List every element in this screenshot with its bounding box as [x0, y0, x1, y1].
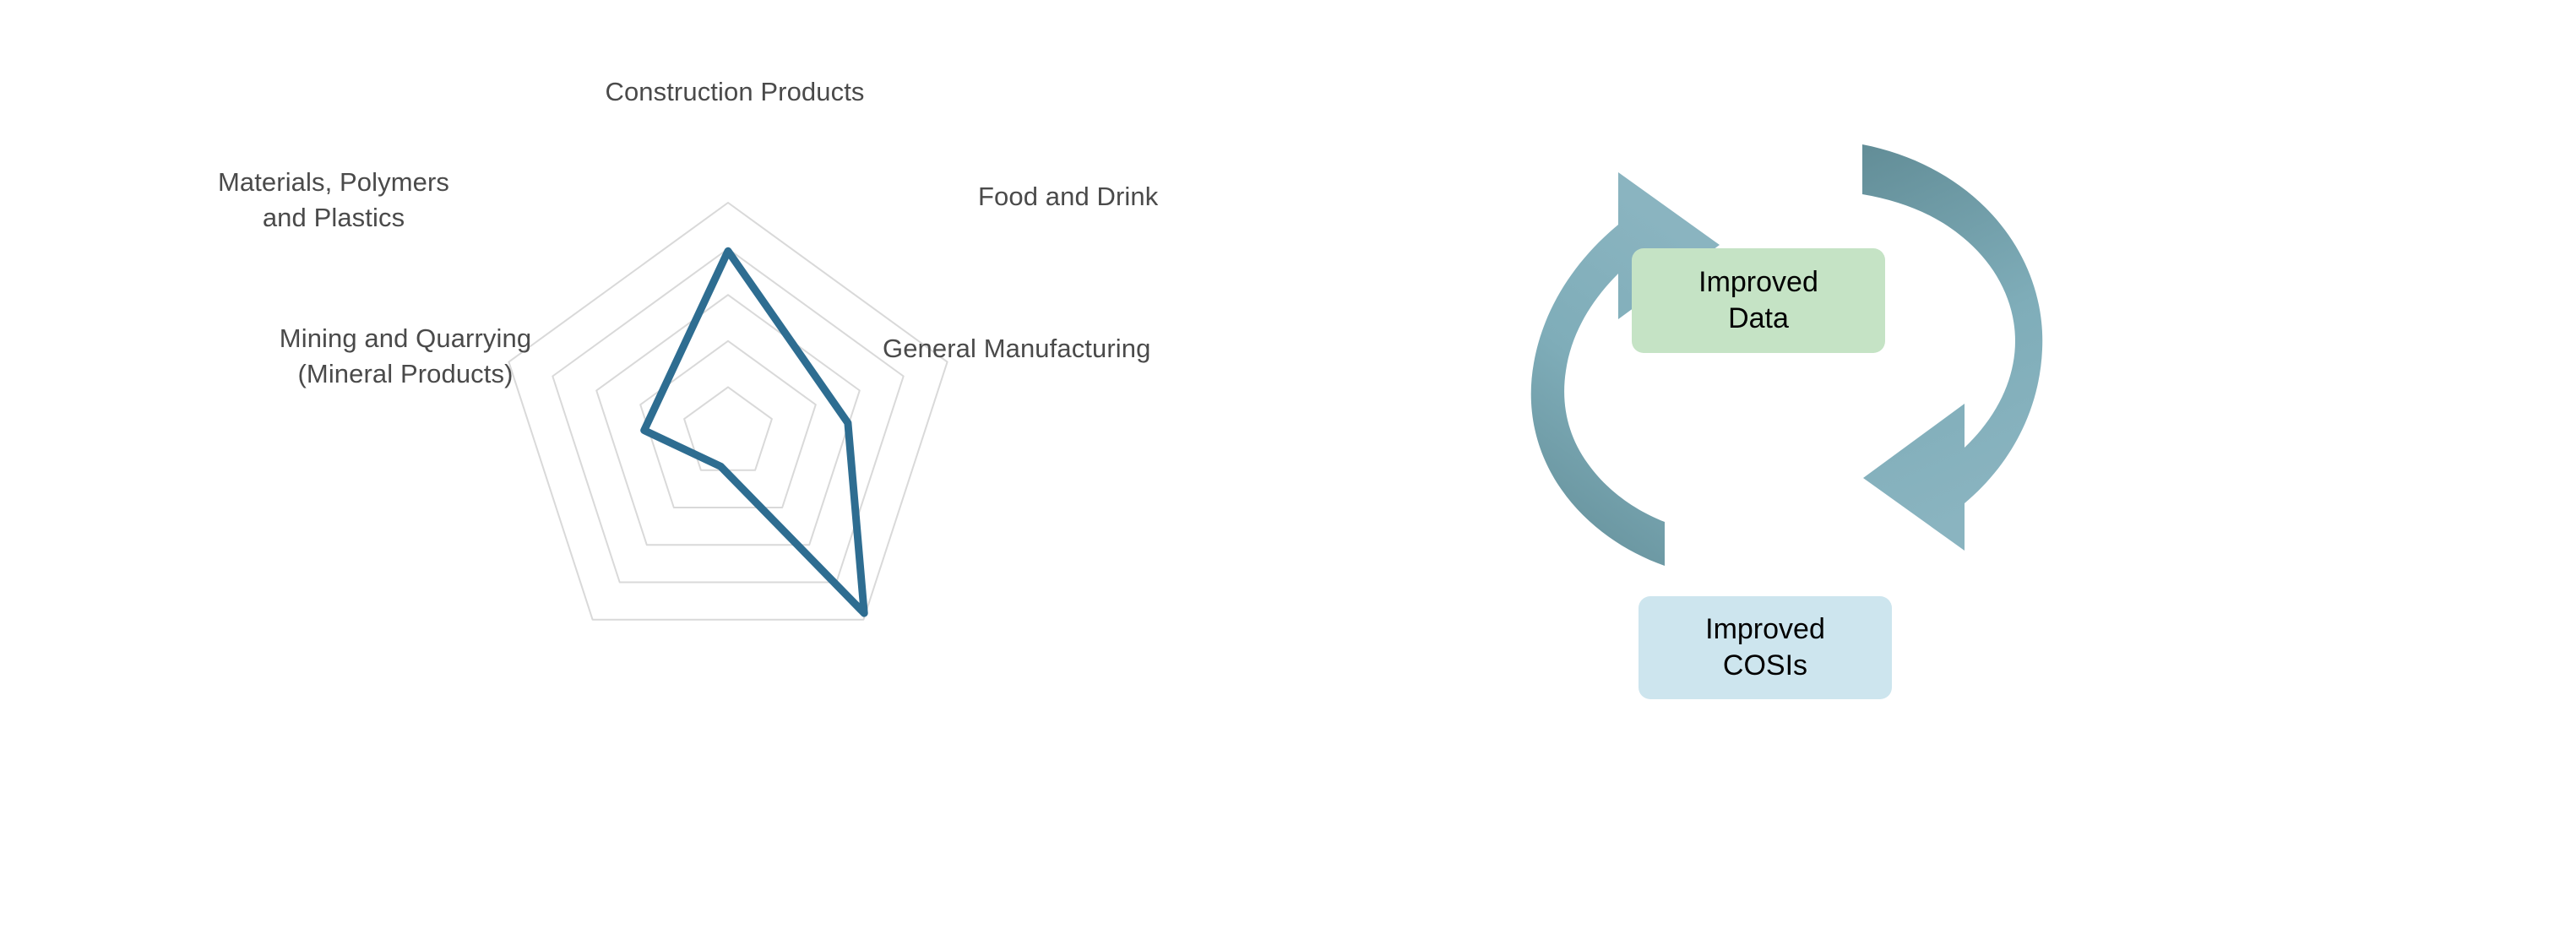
left-arrow-up-icon	[1531, 172, 1720, 566]
radar-gridlines	[508, 203, 947, 620]
cycle-node-improved-data[interactable]: Improved Data	[1632, 248, 1885, 353]
cycle-diagram-svg	[1284, 0, 2576, 934]
radar-axis-label-general-manufacturing: General Manufacturing	[883, 331, 1237, 367]
radar-axis-label-construction-products: Construction Products	[583, 74, 887, 110]
radar-chart-svg	[0, 0, 1284, 934]
radar-ring-2	[640, 341, 816, 508]
radar-chart-panel: Construction Products Food and Drink Gen…	[0, 0, 1284, 934]
radar-ring-5	[508, 203, 947, 620]
cycle-diagram-panel: Improved Data Improved COSIs	[1284, 0, 2576, 934]
figure-root: Construction Products Food and Drink Gen…	[0, 0, 2576, 934]
radar-axis-label-materials-polymers-and-plastics: Materials, Polymers and Plastics	[173, 165, 494, 236]
radar-axis-label-mining-and-quarrying: Mining and Quarrying (Mineral Products)	[236, 321, 574, 392]
radar-series-polygon	[644, 251, 865, 613]
cycle-node-improved-cosis[interactable]: Improved COSIs	[1639, 596, 1892, 699]
radar-axis-label-food-and-drink: Food and Drink	[978, 179, 1265, 214]
right-arrow-down-icon	[1862, 144, 2042, 551]
